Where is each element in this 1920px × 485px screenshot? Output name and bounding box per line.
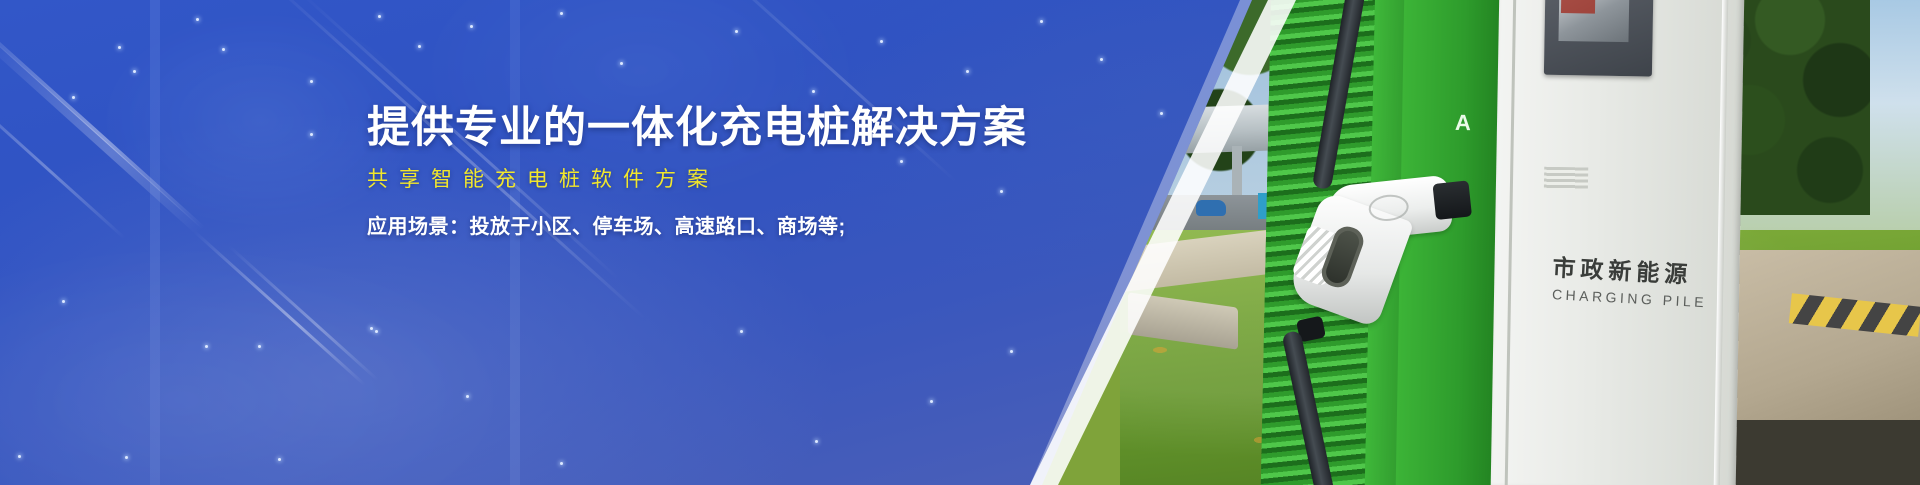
sparkle-dot-icon <box>258 345 261 348</box>
banner-copy-block: 提供专业的一体化充电桩解决方案 共享智能充电桩软件方案 应用场景：投放于小区、停… <box>367 103 1067 240</box>
sparkle-dot-icon <box>1100 58 1103 61</box>
sparkle-dot-icon <box>1040 20 1043 23</box>
sparkle-dot-icon <box>560 462 563 465</box>
sparkle-dot-icon <box>125 456 128 459</box>
charging-gun-connector <box>1278 172 1481 326</box>
sparkle-dot-icon <box>880 40 883 43</box>
pavement-area <box>1720 250 1920 440</box>
sparkle-dot-icon <box>370 327 373 330</box>
dark-ground-shadow <box>1720 420 1920 485</box>
sparkle-dot-icon <box>1160 112 1163 115</box>
sparkle-dot-icon <box>62 300 65 303</box>
cabinet-edge-rail <box>1714 0 1729 485</box>
sparkle-dot-icon <box>278 458 281 461</box>
sparkle-dot-icon <box>1010 350 1013 353</box>
sparkle-dot-icon <box>196 18 199 21</box>
sparkle-dot-icon <box>118 46 121 49</box>
cabinet-seam <box>1505 0 1517 485</box>
sparkle-dot-icon <box>812 90 815 93</box>
sparkle-dot-icon <box>18 455 21 458</box>
sparkle-dot-icon <box>740 330 743 333</box>
parked-car <box>1196 200 1226 216</box>
cabinet-brand-label-en: CHARGING PILE <box>1552 286 1708 310</box>
sparkle-dot-icon <box>735 30 738 33</box>
sparkle-dot-icon <box>310 133 313 136</box>
sparkle-dot-icon <box>466 395 469 398</box>
gun-nose-coupler <box>1432 180 1472 220</box>
banner-subline: 共享智能充电桩软件方案 <box>367 167 1067 192</box>
sparkle-dot-icon <box>375 330 378 333</box>
sparkle-dot-icon <box>72 96 75 99</box>
sparkle-dot-icon <box>310 80 313 83</box>
pile-letter-label: A <box>1455 110 1471 136</box>
sparkle-dot-icon <box>560 12 563 15</box>
sparkle-dot-icon <box>133 70 136 73</box>
sparkle-dot-icon <box>378 15 381 18</box>
sparkle-dot-icon <box>930 400 933 403</box>
sparkle-dot-icon <box>418 45 421 48</box>
sparkle-dot-icon <box>470 25 473 28</box>
sparkle-dot-icon <box>222 48 225 51</box>
banner-tagline: 应用场景：投放于小区、停车场、高速路口、商场等; <box>367 214 1067 240</box>
display-glass <box>1558 0 1629 42</box>
charging-cabinet: 市政新能源 CHARGING PILE <box>1491 0 1745 485</box>
cabinet-brand-label-cn: 市政新能源 <box>1552 248 1694 289</box>
banner-headline: 提供专业的一体化充电桩解决方案 <box>367 103 1067 154</box>
cabinet-display-screen <box>1544 0 1654 77</box>
sparkle-dot-icon <box>966 70 969 73</box>
cabinet-vent <box>1544 167 1588 190</box>
hero-banner: A 市政新能源 CHARGING PILE <box>0 0 1920 485</box>
sparkle-dot-icon <box>205 345 208 348</box>
sparkle-dot-icon <box>815 440 818 443</box>
sparkle-dot-icon <box>620 62 623 65</box>
